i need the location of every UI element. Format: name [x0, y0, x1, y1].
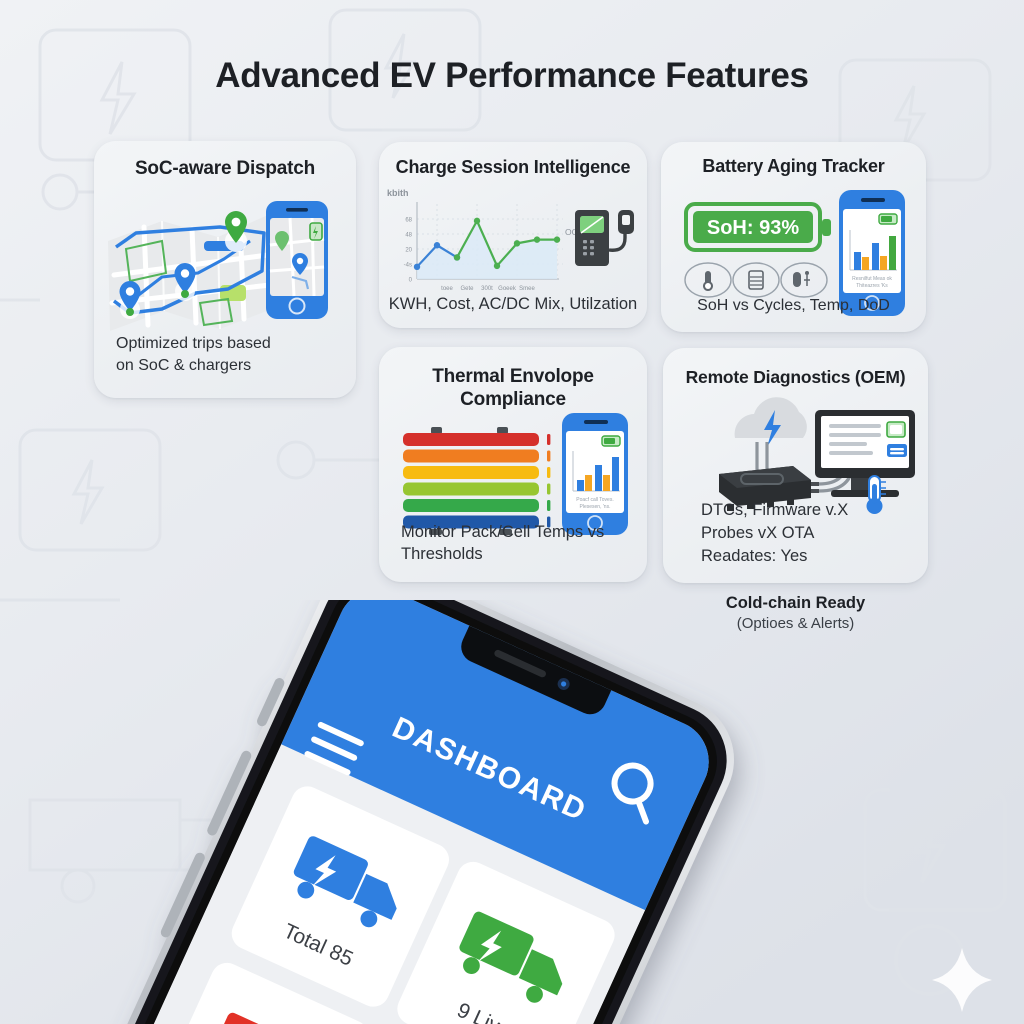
- phone-screen: DASHBOARD Total 859 Live26 Stop48 Inacti…: [0, 600, 722, 1024]
- caption-line-1: DTCs, Firmware v.X: [701, 499, 848, 522]
- phone-mockup: DASHBOARD Total 859 Live26 Stop48 Inacti…: [0, 600, 1024, 1024]
- caption-line-1: Monitor Pack/Cell Temps vs: [401, 522, 604, 544]
- chart-data-point: [534, 236, 540, 242]
- thermal-bar: [403, 466, 539, 479]
- thermal-threshold-tick: [547, 467, 550, 478]
- chart-x-tick: 300t: [481, 286, 493, 292]
- card-title: Remote Diagnostics (OEM): [663, 367, 928, 388]
- card-title: Charge Session Intelligence: [379, 157, 647, 178]
- phone-chart-caption-1: Resnilfut Meas ok: [852, 276, 892, 282]
- thermal-bar: [403, 433, 539, 446]
- chart-x-tick: Goeek: [498, 286, 517, 292]
- chart-data-point: [434, 242, 440, 248]
- card-caption: Monitor Pack/Cell Temps vs Thresholds: [401, 522, 604, 566]
- thermal-bar: [403, 499, 539, 512]
- charge-session-line-chart: kbith 0-4s204868 toeeGete300tGoeekSmee O…: [379, 184, 647, 299]
- card-title: SoC-aware Dispatch: [94, 158, 356, 180]
- card-thermal-envelope-compliance[interactable]: Thermal Envolope Compliance Poacf call T…: [379, 347, 647, 582]
- page-title: Advanced EV Performance Features: [0, 56, 1024, 96]
- caption-line-1: Optimized trips based: [116, 333, 271, 354]
- chart-y-tick: 48: [405, 233, 412, 239]
- card-title-line-1: Thermal Envolope: [379, 365, 647, 388]
- metric-icons-row: [683, 260, 833, 300]
- card-caption: SoH vs Cycles, Temp, DoD: [661, 297, 926, 315]
- map-pin-green: [225, 211, 247, 252]
- chart-data-point: [494, 263, 500, 269]
- chart-x-tick: toee: [441, 286, 453, 292]
- cloud-icon: [735, 397, 807, 447]
- mini-phone-map: [266, 201, 328, 319]
- map-pin-blue-1: [175, 263, 196, 301]
- ev-charger-icon: [575, 210, 634, 266]
- thermal-bar: [403, 450, 539, 463]
- card-title: Thermal Envolope Compliance: [379, 365, 647, 411]
- chart-y-ticks: 0-4s204868: [404, 218, 413, 284]
- map-pin-blue-2: [120, 281, 141, 319]
- chart-data-point: [514, 240, 520, 246]
- chart-data-point: [414, 264, 420, 270]
- thermal-threshold-tick: [547, 451, 550, 462]
- phone-chart-caption-2: Thiteazres 'Ks: [856, 283, 888, 289]
- thermal-bar: [403, 483, 539, 496]
- chart-y-tick: 68: [405, 218, 412, 224]
- chart-x-ticks: toeeGete300tGoeekSmee: [441, 286, 535, 292]
- card-caption: DTCs, Firmware v.X Probes vX OTA Readate…: [701, 499, 848, 568]
- soh-badge-label: SoH: 93%: [684, 202, 822, 254]
- thermal-threshold-tick: [547, 484, 550, 495]
- card-title: Battery Aging Tracker: [661, 156, 926, 177]
- chart-x-tick: Gete: [460, 286, 474, 292]
- card-charge-session-intelligence[interactable]: Charge Session Intelligence kbith 0-4s20…: [379, 142, 647, 328]
- caption-line-3: Readates: Yes: [701, 545, 848, 568]
- chart-y-tick: 0: [409, 278, 413, 284]
- caption-line-2: Probes vX OTA: [701, 522, 848, 545]
- thermal-threshold-tick: [547, 434, 550, 445]
- chart-data-point: [454, 254, 460, 260]
- chart-y-tick: -4s: [404, 263, 412, 269]
- thermal-threshold-tick: [547, 500, 550, 511]
- phone-chart-caption-2: Plesesen, 'ns.: [580, 504, 611, 510]
- chart-y-axis-label: kbith: [387, 188, 409, 198]
- chart-y-tick: 20: [405, 248, 412, 254]
- card-title-line-2: Compliance: [379, 388, 647, 411]
- map-route-illustration: [94, 189, 356, 339]
- card-soc-aware-dispatch[interactable]: SoC-aware Dispatch: [94, 141, 356, 398]
- caption-line-2: Thresholds: [401, 544, 604, 566]
- card-caption: KWH, Cost, AC/DC Mix, Utilzation: [379, 295, 647, 314]
- chart-data-point: [554, 236, 560, 242]
- mini-phone-thermal-chart: Poacf call Toves. Plesesen, 'ns.: [562, 413, 634, 539]
- chart-data-point: [474, 218, 480, 224]
- card-remote-diagnostics-oem[interactable]: Remote Diagnostics (OEM): [663, 348, 928, 583]
- caption-line-2: on SoC & chargers: [116, 355, 271, 376]
- phone-chart-caption-1: Poacf call Toves.: [576, 497, 613, 503]
- card-battery-aging-tracker[interactable]: Battery Aging Tracker SoH: 93%: [661, 142, 926, 332]
- chart-x-tick: Smee: [519, 286, 535, 292]
- card-caption: Optimized trips based on SoC & chargers: [116, 333, 271, 376]
- battery-log-icon: [733, 263, 779, 297]
